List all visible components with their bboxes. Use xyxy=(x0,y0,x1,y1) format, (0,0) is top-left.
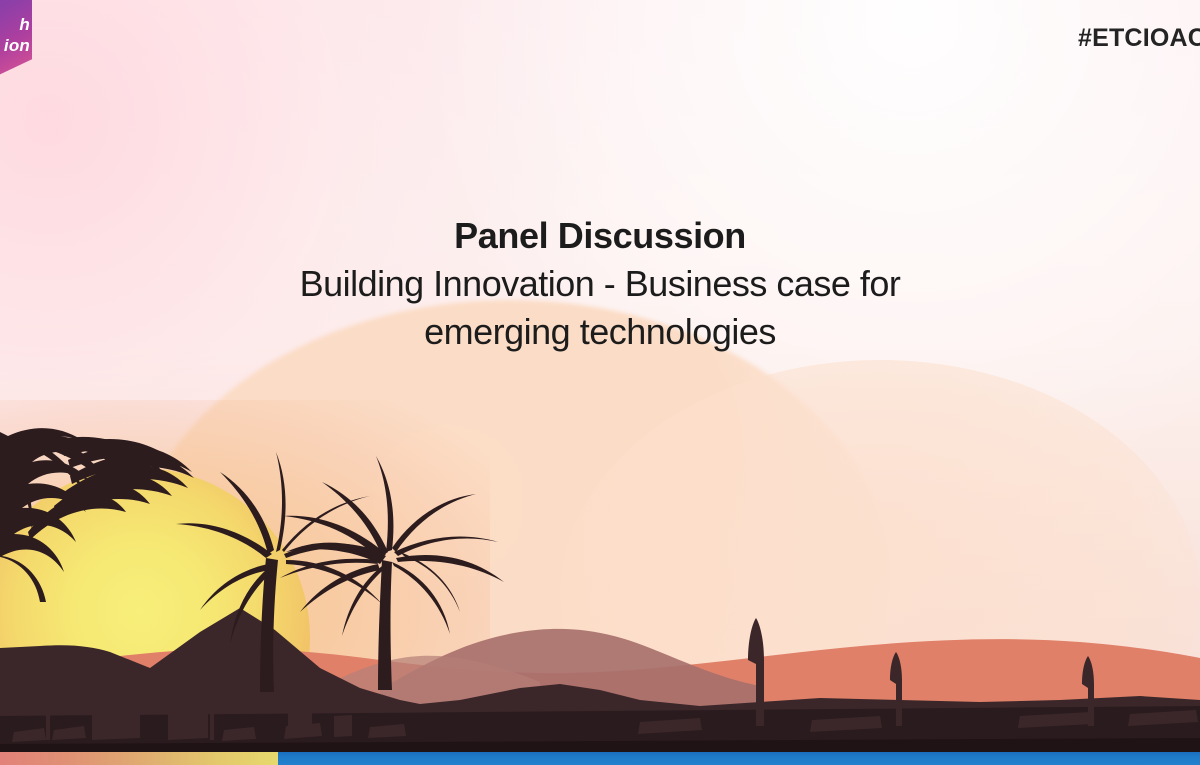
session-title-line-1: Building Innovation - Business case for xyxy=(0,260,1200,308)
slide-canvas: h ion #ETCIOAC Panel Discussion Building… xyxy=(0,0,1200,765)
event-hashtag: #ETCIOAC xyxy=(1078,24,1200,53)
session-type-heading: Panel Discussion xyxy=(0,212,1200,260)
beach-furniture-silhouettes xyxy=(0,0,1200,765)
bottom-color-strip xyxy=(0,752,1200,765)
session-title-line-2: emerging technologies xyxy=(0,308,1200,356)
strip-warm-segment xyxy=(0,752,278,765)
slide-title-block: Panel Discussion Building Innovation - B… xyxy=(0,212,1200,356)
strip-blue-segment xyxy=(278,752,1200,765)
ribbon-line-1: h xyxy=(0,14,30,35)
ribbon-text-block: h ion xyxy=(0,14,30,56)
ribbon-line-2: ion xyxy=(0,35,30,56)
